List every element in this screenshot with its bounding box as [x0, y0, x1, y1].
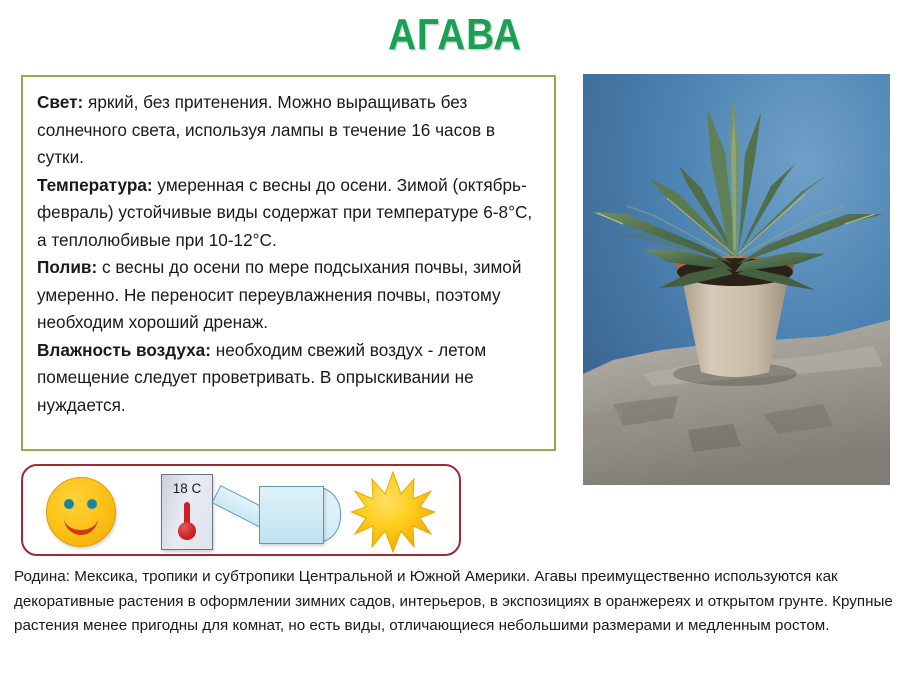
- smiley-eye-left-icon: [64, 499, 74, 509]
- care-label-watering: Полив:: [37, 257, 97, 277]
- care-entry-watering: Полив: с весны до осени по мере подсыхан…: [37, 254, 540, 337]
- sunburst-icon: [351, 471, 435, 553]
- care-entry-temperature: Температура: умеренная с весны до осени.…: [37, 172, 540, 255]
- care-entry-humidity: Влажность воздуха: необходим свежий возд…: [37, 337, 540, 420]
- care-text-light: яркий, без притенения. Можно выращивать …: [37, 92, 495, 167]
- care-icon-strip: 18 C: [21, 464, 461, 556]
- care-label-light: Свет:: [37, 92, 83, 112]
- smiley-eye-right-icon: [87, 499, 97, 509]
- thermometer-label: 18 C: [162, 481, 212, 496]
- watering-can-icon: [218, 478, 346, 546]
- thermometer-icon: 18 C: [161, 474, 213, 550]
- care-label-humidity: Влажность воздуха:: [37, 340, 211, 360]
- agave-photo-illustration: [583, 74, 890, 485]
- page-title: АГАВА: [55, 12, 856, 58]
- agave-plant-photo: [583, 74, 890, 485]
- care-entry-light: Свет: яркий, без притенения. Можно выращ…: [37, 89, 540, 172]
- smiley-mouth-icon: [64, 511, 98, 535]
- care-instructions-box: Свет: яркий, без притенения. Можно выращ…: [21, 75, 556, 451]
- care-text-watering: с весны до осени по мере подсыхания почв…: [37, 257, 521, 332]
- thermometer-bulb-icon: [178, 522, 196, 540]
- origin-description: Родина: Мексика, тропики и субтропики Це…: [14, 565, 898, 639]
- smiley-face-icon: [46, 477, 116, 547]
- origin-description-text: Родина: Мексика, тропики и субтропики Це…: [14, 565, 898, 639]
- care-label-temperature: Температура:: [37, 175, 153, 195]
- watering-can-body-icon: [259, 486, 324, 544]
